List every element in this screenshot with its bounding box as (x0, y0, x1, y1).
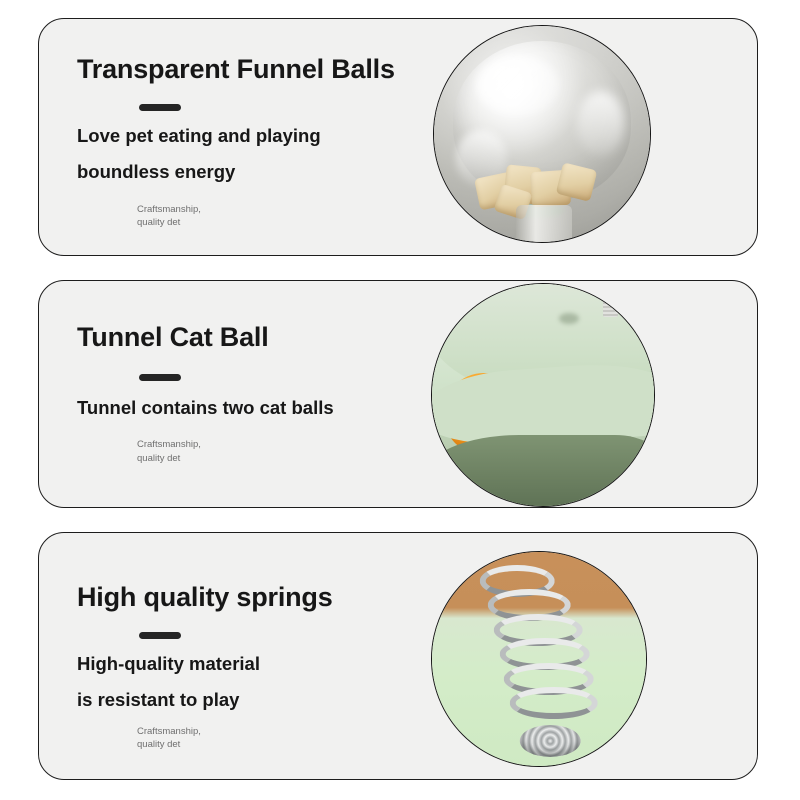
card-caption-line: Craftsmanship, (137, 438, 439, 452)
tunnel-surface-shadow (559, 313, 579, 324)
feature-cards-board: Transparent Funnel Balls Love pet eating… (0, 0, 800, 800)
title-divider-dash (139, 632, 181, 639)
card-caption-line: quality det (137, 452, 439, 466)
funnel-highlight (477, 56, 559, 114)
card-title: High quality springs (77, 582, 439, 612)
card-description-lines: High-quality material is resistant to pl… (77, 653, 439, 711)
title-divider-dash (139, 374, 181, 381)
tunnel-cat-ball-photo (431, 283, 655, 507)
card-description-line: Love pet eating and playing (77, 125, 439, 146)
card-description-line: High-quality material (77, 653, 439, 674)
card-description-lines: Tunnel contains two cat balls (77, 397, 439, 418)
tunnel-floor (431, 435, 655, 506)
card-description-line: is resistant to play (77, 689, 439, 710)
spring-detail-icon (603, 297, 619, 317)
card-description-line: Tunnel contains two cat balls (77, 397, 439, 418)
card-text-block: High quality springs High-quality materi… (39, 533, 439, 779)
card-caption: Craftsmanship, quality det (137, 725, 439, 753)
card-description-line: boundless energy (77, 161, 439, 182)
card-caption: Craftsmanship, quality det (137, 438, 439, 466)
card-text-block: Transparent Funnel Balls Love pet eating… (39, 19, 439, 255)
card-media-block (439, 19, 757, 255)
card-caption: Craftsmanship, quality det (137, 203, 439, 231)
card-caption-line: Craftsmanship, (137, 725, 439, 739)
card-title: Transparent Funnel Balls (77, 54, 439, 84)
card-title: Tunnel Cat Ball (77, 322, 439, 352)
spring-coil-stack (494, 565, 592, 753)
tunnel-body (432, 284, 654, 506)
feature-card-transparent-funnel-balls[interactable]: Transparent Funnel Balls Love pet eating… (38, 18, 758, 256)
card-caption-line: quality det (137, 216, 439, 230)
card-caption-line: Craftsmanship, (137, 203, 439, 217)
feature-card-high-quality-springs[interactable]: High quality springs High-quality materi… (38, 532, 758, 780)
card-media-block (439, 281, 757, 507)
spring-scene-body (432, 552, 646, 766)
card-text-block: Tunnel Cat Ball Tunnel contains two cat … (39, 281, 439, 507)
spring-coil (509, 687, 598, 719)
title-divider-dash (139, 104, 181, 111)
spring-base-coil (519, 725, 580, 757)
card-description-lines: Love pet eating and playing boundless en… (77, 125, 439, 183)
funnel-ball-body (434, 26, 650, 242)
high-quality-spring-photo (431, 551, 647, 767)
funnel-highlight (577, 91, 625, 156)
feature-card-tunnel-cat-ball[interactable]: Tunnel Cat Ball Tunnel contains two cat … (38, 280, 758, 508)
card-caption-line: quality det (137, 738, 439, 752)
funnel-neck (516, 205, 572, 242)
card-media-block (439, 533, 757, 779)
transparent-funnel-ball-photo (433, 25, 651, 243)
